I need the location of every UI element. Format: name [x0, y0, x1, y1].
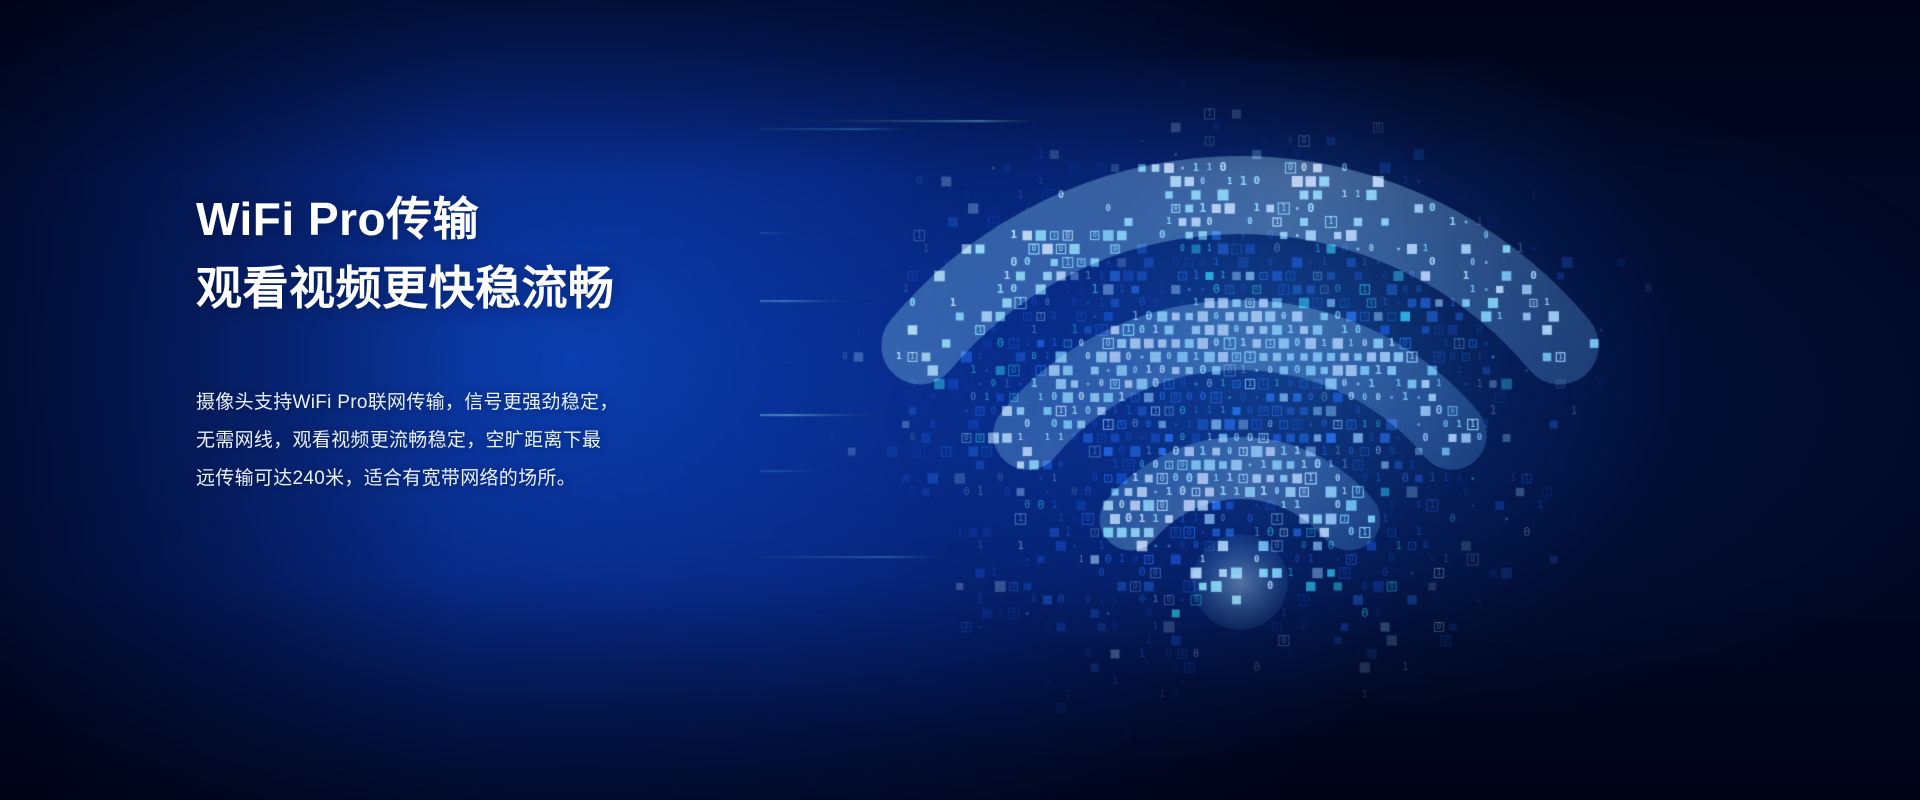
wifi-signal-artwork	[760, 0, 1920, 800]
body-paragraph: 摄像头支持WiFi Pro联网传输，信号更强劲稳定， 无需网线，观看视频更流畅稳…	[196, 384, 756, 498]
body-line-2: 无需网线，观看视频更流畅稳定，空旷距离下最	[196, 422, 756, 460]
headline-line-1: WiFi Pro传输	[196, 186, 756, 253]
binary-matrix-canvas	[760, 0, 1920, 800]
wifi-pro-promo-banner: WiFi Pro传输 观看视频更快稳流畅 摄像头支持WiFi Pro联网传输，信…	[0, 0, 1920, 800]
copy-block: WiFi Pro传输 观看视频更快稳流畅 摄像头支持WiFi Pro联网传输，信…	[196, 186, 756, 498]
headline-line-2: 观看视频更快稳流畅	[196, 255, 756, 322]
body-line-1: 摄像头支持WiFi Pro联网传输，信号更强劲稳定，	[196, 384, 756, 422]
body-line-3: 远传输可达240米，适合有宽带网络的场所。	[196, 460, 756, 498]
